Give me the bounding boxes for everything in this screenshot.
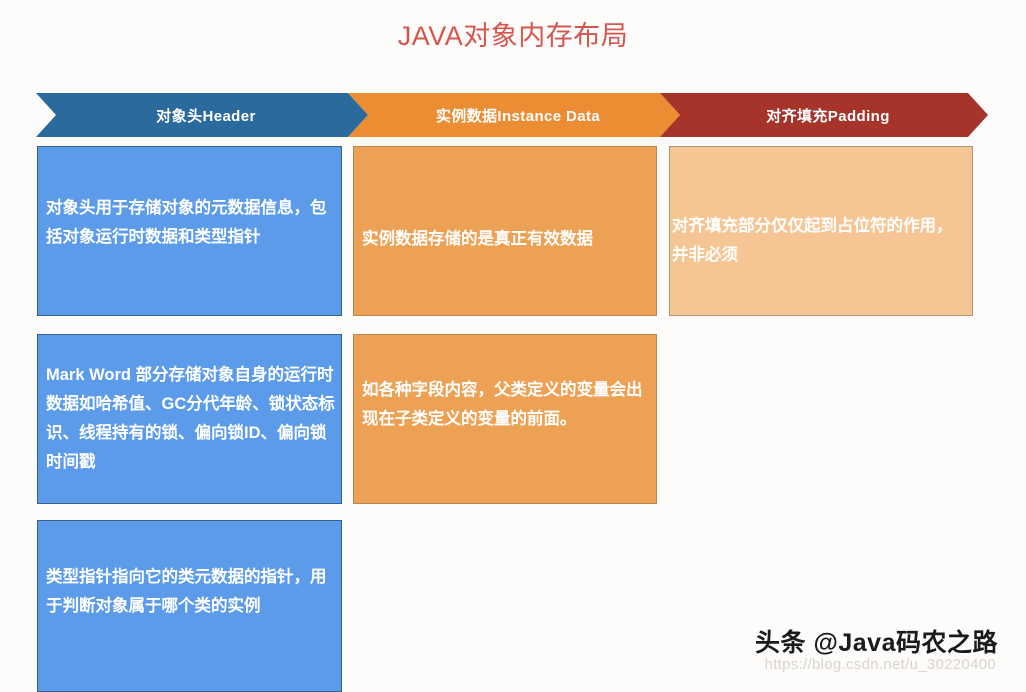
column-instance-data: 实例数据存储的是真正有效数据 如各种字段内容，父类定义的变量会出现在子类定义的变… (353, 146, 657, 504)
column-header: 对象头用于存储对象的元数据信息，包括对象运行时数据和类型指针 Mark Word… (37, 146, 342, 692)
card-mark-word-text: Mark Word 部分存储对象自身的运行时数据如哈希值、GC分代年龄、锁状态标… (46, 361, 335, 477)
card-class-pointer: 类型指针指向它的类元数据的指针，用于判断对象属于哪个类的实例 (37, 520, 342, 692)
banner-padding: 对齐填充Padding (660, 93, 988, 137)
banner-padding-label: 对齐填充Padding (758, 105, 890, 126)
card-padding-overview-text: 对齐填充部分仅仅起到占位符的作用，并非必须 (672, 212, 968, 270)
column-padding: 对齐填充部分仅仅起到占位符的作用，并非必须 (669, 146, 973, 316)
banner-instance-data: 实例数据Instance Data (348, 93, 680, 137)
watermark-url: https://blog.csdn.net/u_30220400 (765, 656, 996, 673)
diagram-canvas: JAVA对象内存布局 对象头Header 实例数据Instance Data 对… (0, 0, 1026, 681)
card-mark-word: Mark Word 部分存储对象自身的运行时数据如哈希值、GC分代年龄、锁状态标… (37, 334, 342, 504)
page-title: JAVA对象内存布局 (0, 14, 1026, 53)
card-header-overview-text: 对象头用于存储对象的元数据信息，包括对象运行时数据和类型指针 (46, 194, 335, 252)
card-instance-data-fields: 如各种字段内容，父类定义的变量会出现在子类定义的变量的前面。 (353, 334, 657, 504)
card-padding-overview: 对齐填充部分仅仅起到占位符的作用，并非必须 (669, 146, 973, 316)
banner-header-label: 对象头Header (148, 105, 255, 126)
banner-header: 对象头Header (36, 93, 368, 137)
section-banner-row: 对象头Header 实例数据Instance Data 对齐填充Padding (0, 93, 1026, 137)
card-instance-data-overview-text: 实例数据存储的是真正有效数据 (362, 225, 650, 254)
card-instance-data-overview: 实例数据存储的是真正有效数据 (353, 146, 657, 316)
card-instance-data-fields-text: 如各种字段内容，父类定义的变量会出现在子类定义的变量的前面。 (362, 376, 650, 434)
card-class-pointer-text: 类型指针指向它的类元数据的指针，用于判断对象属于哪个类的实例 (46, 563, 335, 621)
card-header-overview: 对象头用于存储对象的元数据信息，包括对象运行时数据和类型指针 (37, 146, 342, 316)
watermark-author: 头条 @Java码农之路 (755, 623, 998, 659)
banner-instance-data-label: 实例数据Instance Data (428, 105, 600, 126)
